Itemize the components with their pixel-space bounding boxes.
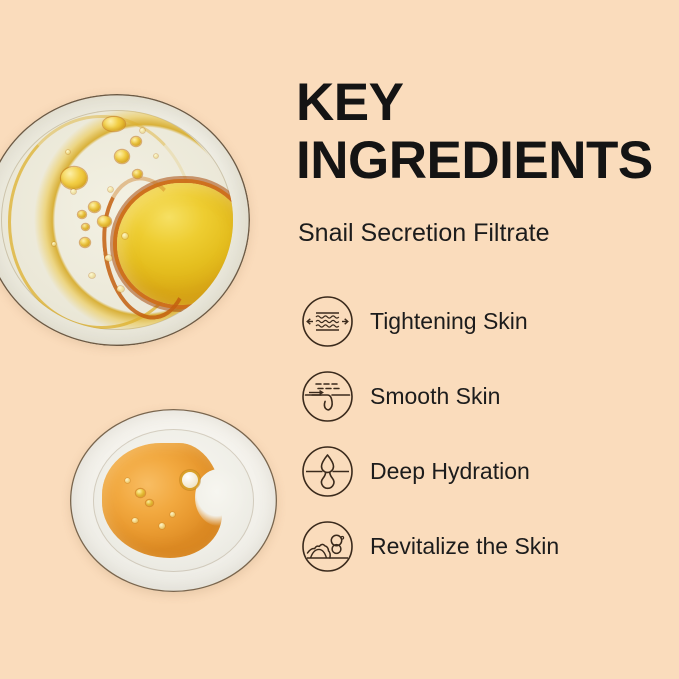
text-column: KEYINGREDIENTS Snail Secretion Filtrate <box>296 0 679 679</box>
key-ingredients-infographic: KEYINGREDIENTS Snail Secretion Filtrate <box>0 0 679 679</box>
oil-droplet <box>98 216 111 227</box>
gel-bubble <box>132 518 138 523</box>
list-item: Deep Hydration <box>301 440 679 502</box>
oil-droplet <box>78 211 86 218</box>
oil-droplet <box>117 286 124 292</box>
oil-droplet <box>115 150 129 163</box>
benefits-list: Tightening Skin <box>301 290 679 590</box>
list-item: Smooth Skin <box>301 365 679 427</box>
benefit-label: Deep Hydration <box>370 458 530 485</box>
oil-droplet <box>122 233 128 239</box>
gel-bubble <box>125 478 130 483</box>
petri-dish-contents <box>1 110 232 329</box>
benefit-label: Revitalize the Skin <box>370 533 559 560</box>
petri-dish-serum-with-oil-droplets <box>0 94 250 346</box>
list-item: Tightening Skin <box>301 290 679 352</box>
oil-droplet <box>108 187 113 192</box>
oil-droplet <box>131 137 141 146</box>
page-title: KEYINGREDIENTS <box>296 74 666 190</box>
plate-contents <box>93 429 254 572</box>
benefit-label: Tightening Skin <box>370 308 528 335</box>
oil-droplet <box>133 170 142 178</box>
tightening-skin-icon <box>301 295 354 348</box>
oil-droplet <box>103 117 125 131</box>
smooth-skin-icon <box>301 370 354 423</box>
list-item: Revitalize the Skin <box>301 515 679 577</box>
deep-hydration-icon <box>301 445 354 498</box>
oil-droplet <box>66 150 70 154</box>
oil-droplet <box>80 238 90 247</box>
oil-droplet <box>89 273 95 278</box>
revitalize-skin-icon <box>301 520 354 573</box>
benefit-label: Smooth Skin <box>370 383 500 410</box>
title-line-2: INGREDIENTS <box>296 131 653 190</box>
gel-highlight <box>195 469 243 526</box>
white-plate-with-amber-gel <box>70 409 277 592</box>
ingredient-subtitle: Snail Secretion Filtrate <box>298 218 550 248</box>
title-line-1: KEY <box>296 73 403 132</box>
product-imagery <box>0 0 300 679</box>
gel-bead <box>182 472 198 488</box>
